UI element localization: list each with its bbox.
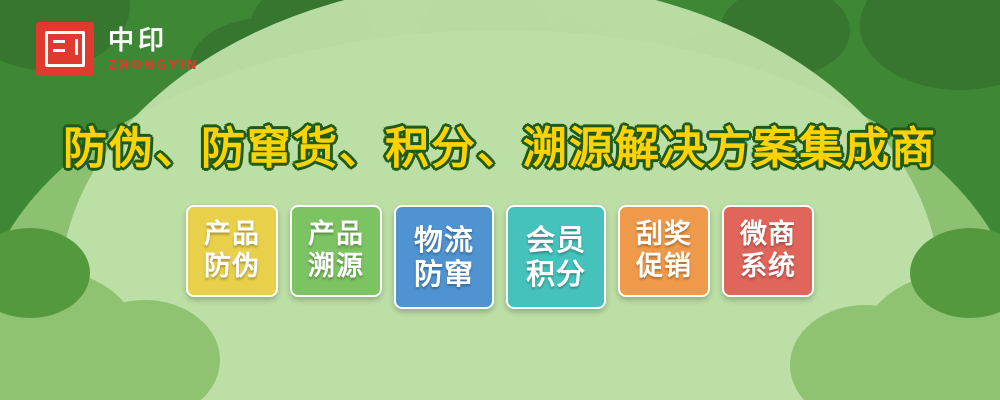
zhongyin-logo-icon — [36, 22, 94, 76]
feature-card-line2: 防窜 — [414, 257, 474, 291]
brand-logo: 中印 ZHONGYIN — [36, 22, 199, 76]
feature-card-product-traceability[interactable]: 产品 溯源 — [290, 205, 382, 297]
brand-name-en: ZHONGYIN — [108, 59, 199, 71]
feature-card-line1: 物流 — [414, 223, 474, 257]
feature-card-logistics-anti-diversion[interactable]: 物流 防窜 — [394, 205, 494, 309]
feature-card-member-points[interactable]: 会员 积分 — [506, 205, 606, 309]
feature-card-product-antifake[interactable]: 产品 防伪 — [186, 205, 278, 297]
feature-card-line2: 促销 — [636, 251, 692, 283]
feature-card-line1: 微商 — [740, 219, 796, 251]
feature-card-scratch-promotion[interactable]: 刮奖 促销 — [618, 205, 710, 297]
brand-logo-text: 中印 ZHONGYIN — [108, 28, 199, 71]
feature-card-line1: 产品 — [204, 219, 260, 251]
feature-card-wechat-business-system[interactable]: 微商 系统 — [722, 205, 814, 297]
headline-text: 防伪、防窜货、积分、溯源解决方案集成商 — [0, 112, 1000, 176]
feature-card-line1: 产品 — [308, 219, 364, 251]
feature-card-list: 产品 防伪 产品 溯源 物流 防窜 会员 积分 刮奖 促销 微商 系统 — [0, 205, 1000, 309]
brand-name-cn: 中印 — [108, 28, 199, 54]
feature-card-line2: 积分 — [526, 257, 586, 291]
feature-card-line1: 刮奖 — [636, 219, 692, 251]
feature-card-line2: 防伪 — [204, 251, 260, 283]
feature-card-line2: 系统 — [740, 251, 796, 283]
promo-banner: 中印 ZHONGYIN 防伪、防窜货、积分、溯源解决方案集成商 产品 防伪 产品… — [0, 0, 1000, 400]
feature-card-line1: 会员 — [526, 223, 586, 257]
feature-card-line2: 溯源 — [308, 251, 364, 283]
